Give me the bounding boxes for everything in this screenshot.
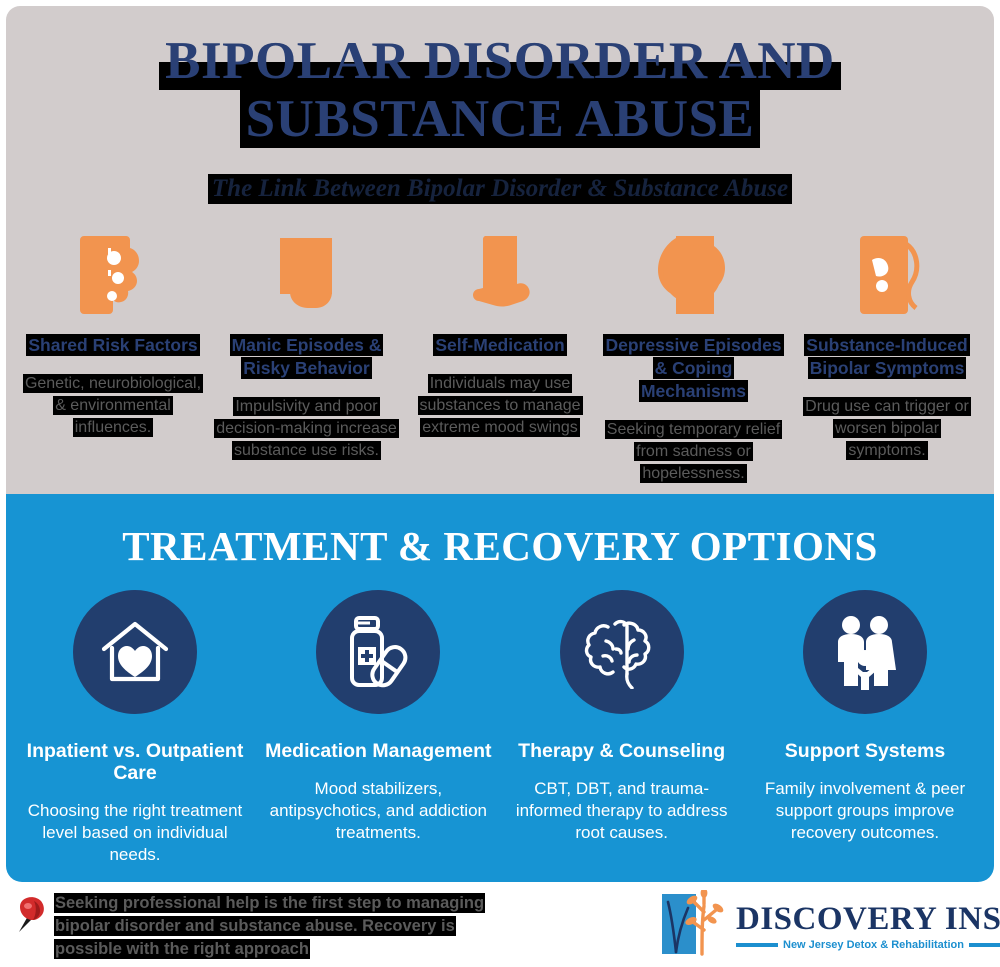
cause-desc-box: Seeking temporary relief from sadness or… <box>601 419 787 485</box>
cause-description: Genetic, neurobiological, & environmenta… <box>23 374 203 437</box>
cause-card: Depressive Episodes & Coping Mechanisms … <box>601 234 787 485</box>
head-pill-icon <box>455 234 545 316</box>
cause-card: Substance-Induced Bipolar Symptoms Drug … <box>794 234 980 485</box>
footer: Seeking professional help is the first s… <box>0 886 1000 967</box>
treatment-icon-circle <box>316 590 440 714</box>
head-spiral-icon <box>842 234 932 316</box>
cause-title: Manic Episodes & Risky Behavior <box>230 334 384 379</box>
cause-title: Shared Risk Factors <box>26 334 199 356</box>
discovery-institute-logo[interactable]: DISCOVERY INSTITUTE New Jersey Detox & R… <box>660 888 1000 960</box>
family-group-icon <box>829 614 901 690</box>
treatment-description: Mood stabilizers, antipsychotics, and ad… <box>263 778 493 844</box>
treatment-card: Therapy & Counseling CBT, DBT, and traum… <box>507 590 737 866</box>
treatment-title: Inpatient vs. Outpatient Care <box>20 740 250 784</box>
cause-description: Drug use can trigger or worsen bipolar s… <box>803 397 971 460</box>
treatment-icon-circle <box>73 590 197 714</box>
cause-card: Manic Episodes & Risky Behavior Impulsiv… <box>214 234 400 485</box>
cause-title-box: Depressive Episodes & Coping Mechanisms <box>601 334 787 403</box>
tree-logo-icon <box>660 890 740 958</box>
logo-name: DISCOVERY INSTITUTE <box>736 902 1000 936</box>
cause-title: Substance-Induced Bipolar Symptoms <box>804 334 969 379</box>
treatment-section: TREATMENT & RECOVERY OPTIONS Inpatient v… <box>6 494 994 882</box>
title-line-1: BIPOLAR DISORDER AND <box>159 32 841 90</box>
cause-description: Seeking temporary relief from sadness or… <box>605 420 782 483</box>
cause-title-box: Manic Episodes & Risky Behavior <box>214 334 400 380</box>
cause-card: Self-Medication Individuals may use subs… <box>407 234 593 485</box>
cause-title: Depressive Episodes & Coping Mechanisms <box>603 334 783 402</box>
treatment-title: Support Systems <box>785 740 945 762</box>
brain-icon <box>584 615 660 689</box>
head-gears-icon <box>68 234 158 316</box>
head-lightning-icon <box>262 234 352 316</box>
footer-note-box: Seeking professional help is the first s… <box>54 892 514 961</box>
cause-title-box: Self-Medication <box>433 334 566 357</box>
treatment-description: CBT, DBT, and trauma-informed therapy to… <box>507 778 737 844</box>
treatment-card: Medication Management Mood stabilizers, … <box>263 590 493 866</box>
logo-rule-right <box>969 943 1000 947</box>
causes-section: BIPOLAR DISORDER AND SUBSTANCE ABUSE The… <box>6 6 994 494</box>
treatment-card: Inpatient vs. Outpatient Care Choosing t… <box>20 590 250 866</box>
cause-card: Shared Risk Factors Genetic, neurobiolog… <box>20 234 206 485</box>
treatment-description: Family involvement & peer support groups… <box>750 778 980 844</box>
treatment-description: Choosing the right treatment level based… <box>20 800 250 866</box>
causes-list: Shared Risk Factors Genetic, neurobiolog… <box>20 234 980 485</box>
house-heart-icon <box>98 615 172 689</box>
pill-bottle-icon <box>343 614 413 690</box>
head-mood-icon <box>649 234 739 316</box>
cause-title-box: Substance-Induced Bipolar Symptoms <box>794 334 980 380</box>
cause-desc-box: Individuals may use substances to manage… <box>407 373 593 439</box>
cause-title-box: Shared Risk Factors <box>26 334 199 357</box>
logo-wordmark: DISCOVERY INSTITUTE New Jersey Detox & R… <box>736 902 1000 951</box>
treatment-card: Support Systems Family involvement & pee… <box>750 590 980 866</box>
cause-description: Individuals may use substances to manage… <box>418 374 583 437</box>
treatment-title: Medication Management <box>265 740 491 762</box>
title-line-2: SUBSTANCE ABUSE <box>240 90 761 148</box>
cause-title: Self-Medication <box>433 334 566 356</box>
logo-rule-left <box>736 943 778 947</box>
cause-desc-box: Impulsivity and poor decision-making inc… <box>214 396 400 462</box>
logo-tagline-row: New Jersey Detox & Rehabilitation <box>736 939 1000 951</box>
pushpin-icon <box>14 894 48 934</box>
subtitle-text: The Link Between Bipolar Disorder & Subs… <box>208 174 792 204</box>
footer-note: Seeking professional help is the first s… <box>54 893 485 959</box>
footer-note-row: Seeking professional help is the first s… <box>14 892 514 961</box>
treatment-icon-circle <box>560 590 684 714</box>
treatment-options-list: Inpatient vs. Outpatient Care Choosing t… <box>20 590 980 866</box>
page-title: BIPOLAR DISORDER AND SUBSTANCE ABUSE <box>6 32 994 148</box>
treatment-title: Therapy & Counseling <box>518 740 725 762</box>
treatment-heading: TREATMENT & RECOVERY OPTIONS <box>6 522 994 570</box>
cause-desc-box: Genetic, neurobiological, & environmenta… <box>20 373 206 439</box>
cause-description: Impulsivity and poor decision-making inc… <box>214 397 399 460</box>
logo-tagline: New Jersey Detox & Rehabilitation <box>778 939 969 951</box>
treatment-icon-circle <box>803 590 927 714</box>
infographic-page: BIPOLAR DISORDER AND SUBSTANCE ABUSE The… <box>0 0 1000 967</box>
cause-desc-box: Drug use can trigger or worsen bipolar s… <box>794 396 980 462</box>
page-subtitle: The Link Between Bipolar Disorder & Subs… <box>6 174 994 204</box>
